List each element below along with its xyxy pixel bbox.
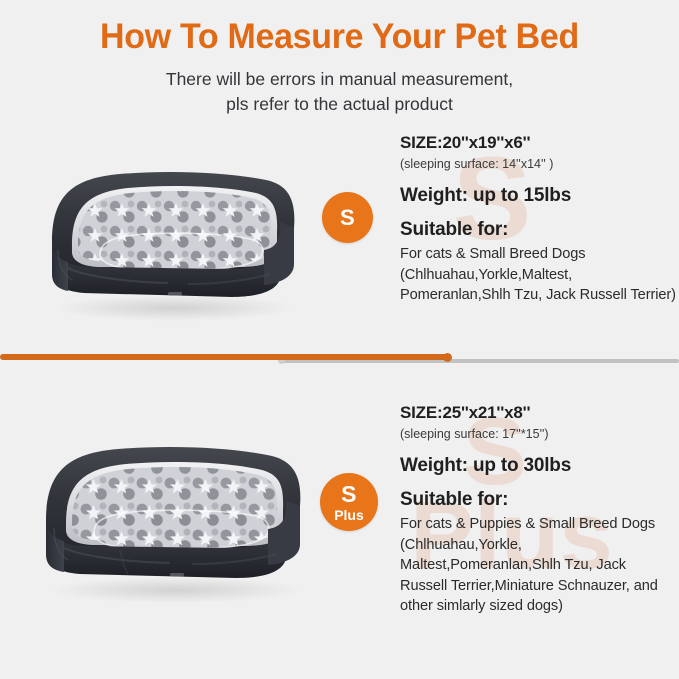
- size-section-s-plus: S Plus S Plus SIZE:25''x21''x8'' (sleepi…: [0, 398, 679, 658]
- size-info-s: S SIZE:20''x19''x6'' (sleeping surface: …: [400, 132, 676, 306]
- divider-orange-bar: [0, 354, 451, 360]
- pet-bed-photo-small: [28, 150, 316, 325]
- badge-label: S: [341, 483, 357, 506]
- size-dimensions: SIZE:25''x21''x8'': [400, 402, 676, 423]
- size-dimensions: SIZE:20''x19''x6'': [400, 132, 676, 153]
- suitable-heading: Suitable for:: [400, 218, 676, 242]
- size-info-s-plus: S Plus SIZE:25''x21''x8'' (sleeping surf…: [400, 402, 676, 617]
- weight-capacity: Weight: up to 30lbs: [400, 454, 676, 478]
- size-badge-s: S: [322, 192, 373, 243]
- sleeping-surface: (sleeping surface: 14''x14'' ): [400, 155, 676, 173]
- page-subtitle: There will be errors in manual measureme…: [0, 67, 679, 117]
- weight-capacity: Weight: up to 15lbs: [400, 184, 676, 208]
- sleeping-surface: (sleeping surface: 17''*15''): [400, 425, 676, 443]
- badge-label: S: [340, 207, 355, 229]
- section-divider: [0, 353, 679, 367]
- page-title: How To Measure Your Pet Bed: [10, 16, 669, 58]
- header: How To Measure Your Pet Bed There will b…: [0, 0, 679, 117]
- size-section-s: S S SIZE:20''x19''x6'' (sleeping surface…: [0, 128, 679, 353]
- subtitle-line-1: There will be errors in manual measureme…: [0, 67, 679, 92]
- subtitle-line-2: pls refer to the actual product: [0, 92, 679, 117]
- size-badge-s-plus: S Plus: [320, 473, 378, 531]
- suitable-heading: Suitable for:: [400, 488, 676, 512]
- pet-bed-illustration: [28, 150, 316, 325]
- divider-orange-knob: [443, 353, 452, 362]
- pet-bed-illustration: [24, 424, 324, 606]
- badge-sublabel: Plus: [334, 508, 364, 522]
- infographic-page: How To Measure Your Pet Bed There will b…: [0, 0, 679, 679]
- suitable-body: For cats & Puppies & Small Breed Dogs (C…: [400, 514, 676, 617]
- pet-bed-photo-s-plus: [24, 424, 324, 606]
- suitable-body: For cats & Small Breed Dogs (Chlhuahau,Y…: [400, 244, 676, 306]
